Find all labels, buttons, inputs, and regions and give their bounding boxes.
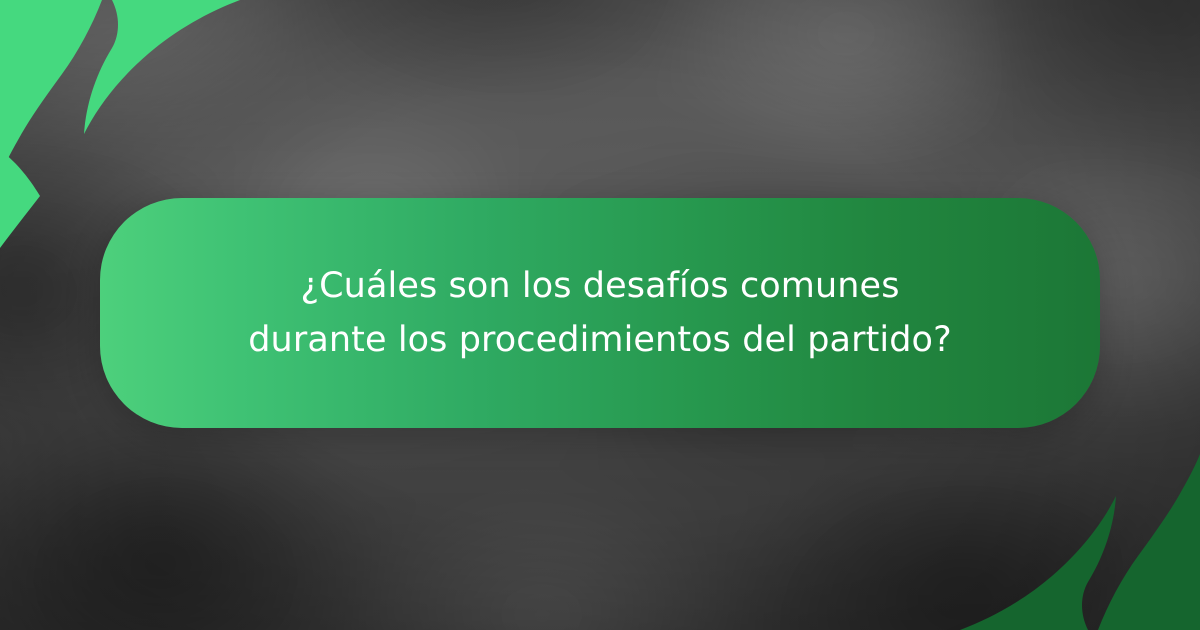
question-text: ¿Cuáles son los desafíos comunes durante… <box>230 259 970 368</box>
top-left-accent-shape <box>0 150 40 248</box>
top-left-sliver-shape <box>84 0 240 134</box>
question-card-graphic: ¿Cuáles son los desafíos comunes durante… <box>0 0 1200 630</box>
bottom-right-blob-shape <box>1098 454 1200 630</box>
top-left-blob-shape <box>0 0 102 176</box>
question-card: ¿Cuáles son los desafíos comunes durante… <box>100 198 1100 428</box>
bottom-right-sliver-shape <box>960 496 1116 630</box>
